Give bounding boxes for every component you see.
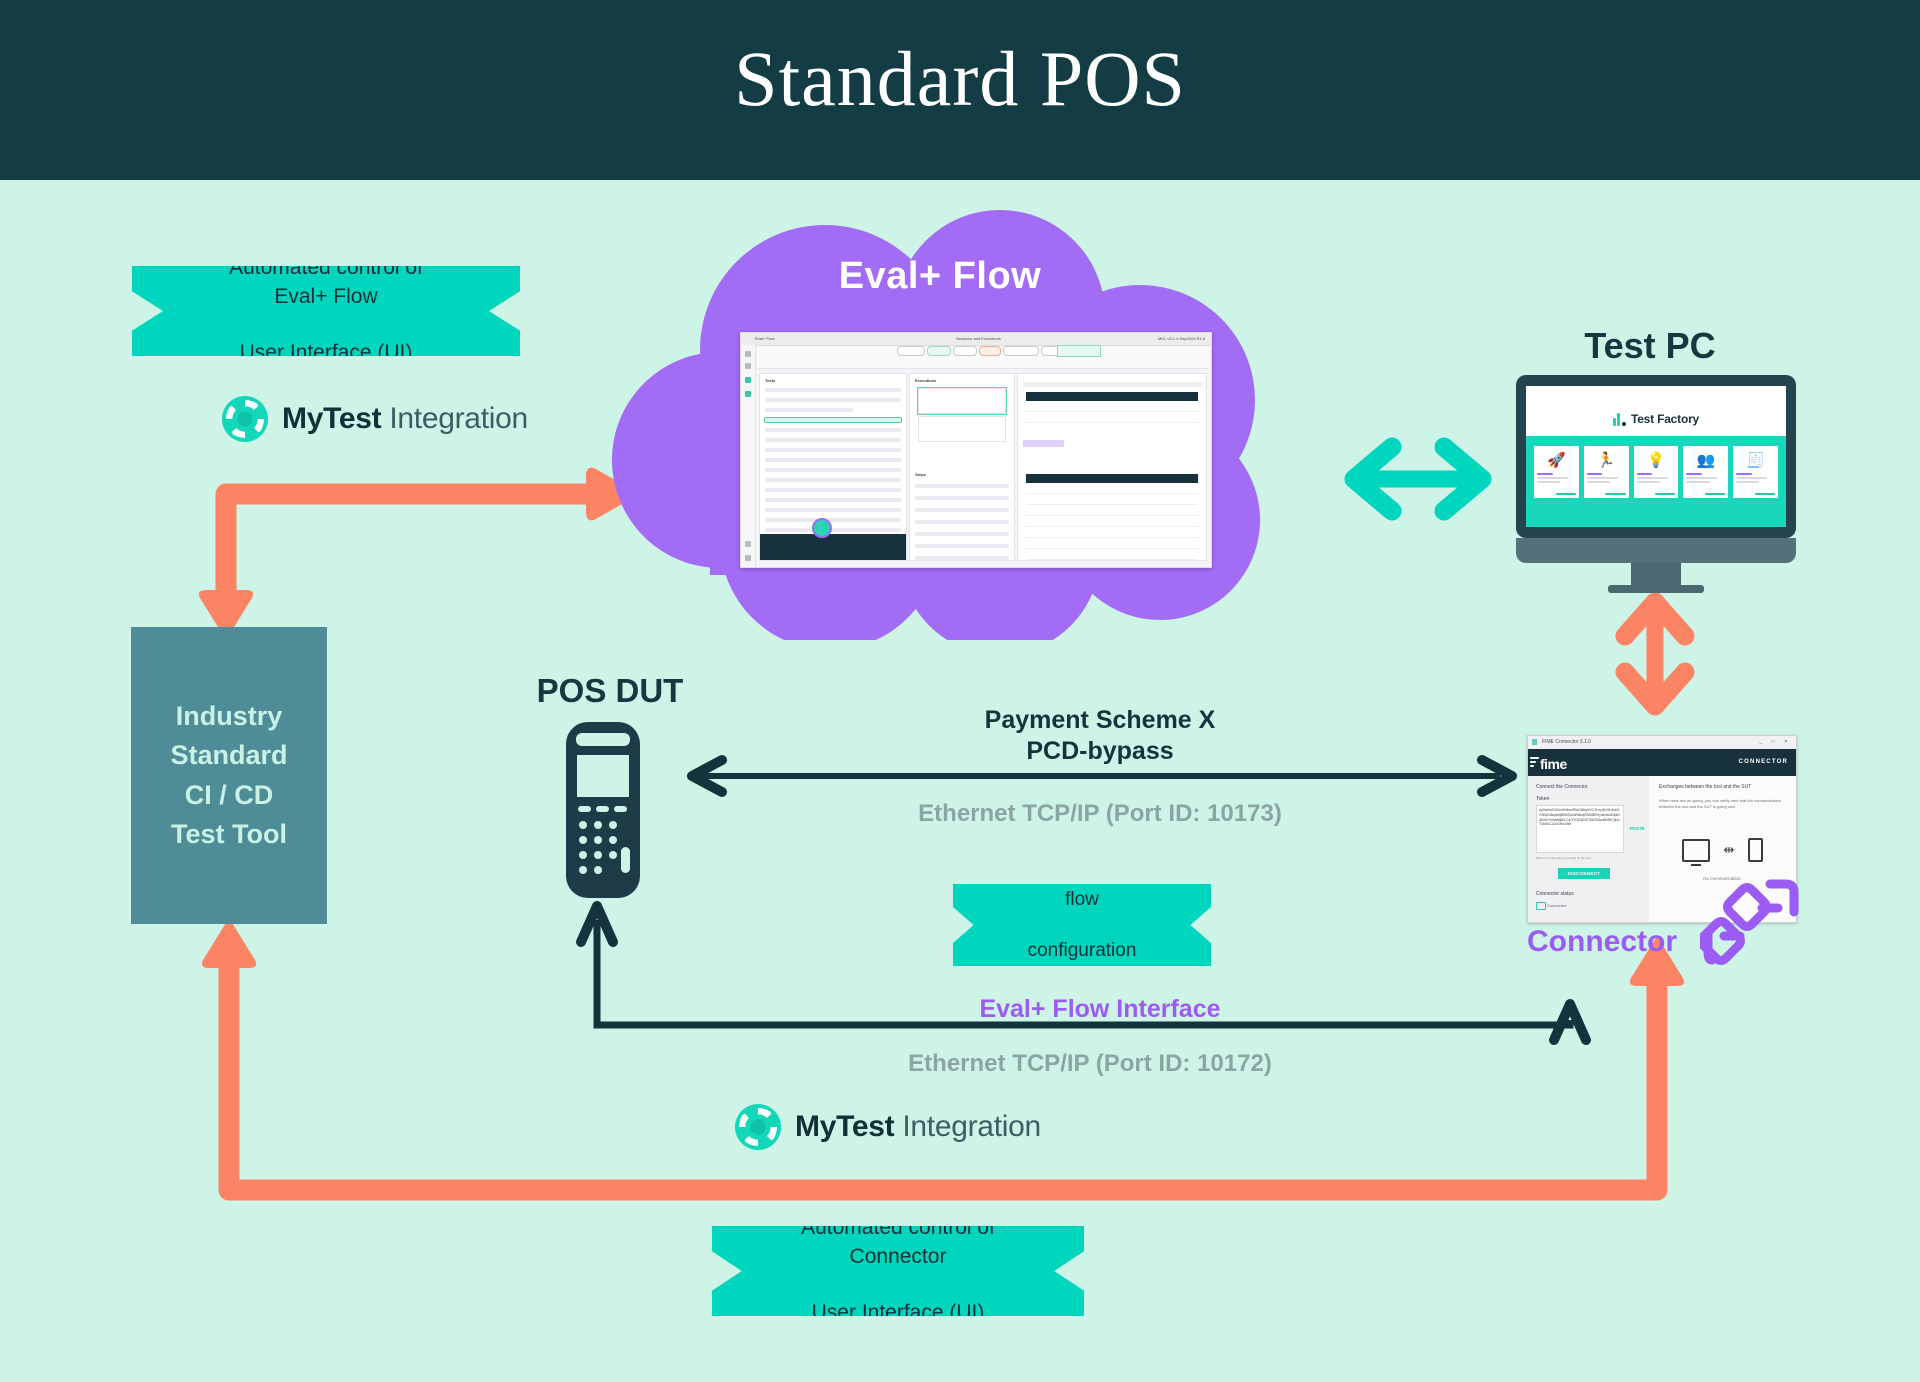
cicd-line2: Standard	[170, 740, 287, 770]
page-header: Standard POS	[0, 0, 1920, 180]
bulb-icon: 💡	[1637, 449, 1676, 471]
no-link-icon: ⇹	[1724, 842, 1735, 858]
teal-double-arrow-cloud-testpc	[1354, 447, 1482, 511]
diagram-canvas: Standard POS	[0, 0, 1920, 1382]
evalflow-tests-panel[interactable]: Tests	[759, 373, 907, 561]
payment-scheme-label: Payment Scheme X PCD-bypass	[800, 705, 1400, 768]
mytest-light: Integration	[389, 402, 527, 435]
token-textarea[interactable]: eyJhbGciOiJIUzI1NiIsInR5cCI6IkpXVCJ9.eyJ…	[1536, 805, 1624, 853]
connector-status-value: Connected	[1547, 903, 1566, 908]
testfactory-card[interactable]: 🏃	[1584, 446, 1629, 498]
mytest-wordmark: MyTest Integration	[795, 1110, 1041, 1144]
cicd-line3: CI / CD	[185, 780, 274, 810]
testfactory-navbar[interactable]	[1526, 386, 1786, 403]
connector-section-title: CONNECTOR	[1739, 759, 1788, 765]
exchanges-heading: Exchanges between the tool and the SUT	[1659, 784, 1751, 790]
refresh-cycle-icon	[735, 1104, 781, 1150]
mytest-wordmark: MyTest Integration	[282, 402, 528, 436]
phone-icon	[1748, 838, 1763, 862]
connector-brandbar: fime CONNECTOR	[1528, 749, 1796, 776]
connector-label: Connector	[1527, 925, 1727, 959]
evalflow-download-report-button[interactable]	[1057, 345, 1101, 357]
evalflow-app-screenshot[interactable]: Eval+ Flow Sessions and Executions MCL v…	[740, 332, 1212, 568]
token-label: Token	[1536, 796, 1549, 802]
orange-flow-cicd-to-cloud	[199, 468, 640, 640]
mytest-integration-logo-bottom: MyTest Integration	[735, 1104, 1041, 1150]
connector-left-pane: Connect the Connector Token eyJhbGciOiJI…	[1528, 776, 1650, 922]
connector-window-titlebar: FIME Connector 3.1.0 _ □ ✕	[1528, 736, 1796, 750]
mytest-integration-logo-top: MyTest Integration	[222, 396, 528, 442]
pos-dut-terminal-icon	[566, 722, 640, 898]
testfactory-card-row: 🚀 🏃 💡 👥 🧾	[1534, 446, 1778, 498]
testfactory-card[interactable]: 💡	[1634, 446, 1679, 498]
testfactory-card[interactable]: 🚀	[1534, 446, 1579, 498]
connector-window-title: FIME Connector 3.1.0	[1542, 739, 1591, 745]
plug-connector-icon	[1700, 878, 1804, 966]
payment-scheme-line1: Payment Scheme X	[985, 706, 1216, 734]
refresh-cycle-icon	[222, 396, 268, 442]
pos-dut-label: POS DUT	[500, 672, 720, 710]
testfactory-hero: Test Factory	[1526, 402, 1786, 436]
connect-heading: Connect the Connector	[1536, 784, 1587, 790]
invoice-icon: 🧾	[1736, 449, 1775, 471]
testfactory-card[interactable]: 👥	[1683, 446, 1728, 498]
window-controls[interactable]: _ □ ✕	[1759, 739, 1792, 745]
mytest-bold: MyTest	[282, 402, 381, 435]
runner-icon: 🏃	[1587, 449, 1626, 471]
ribbon-connector-line1: Automated control of Connector	[754, 1214, 1042, 1271]
ribbon-transaction-flow: Transaction flow configuration & outcome	[953, 884, 1211, 966]
mytest-bold: MyTest	[795, 1110, 894, 1143]
people-icon: 👥	[1686, 449, 1725, 471]
testfactory-logo-icon	[1613, 412, 1626, 426]
rocket-icon: 🚀	[1537, 449, 1576, 471]
evalflow-executions-panel[interactable]: Executions Steps	[909, 373, 1015, 561]
exchanges-body: When tests are on-going, you can verify …	[1659, 798, 1788, 810]
test-pc-label: Test PC	[1470, 325, 1830, 367]
ribbon-eval-line1: Automated control of Eval+ Flow	[174, 254, 478, 311]
monitor-icon	[1682, 839, 1710, 862]
ribbon-transaction-line2: configuration & outcome	[986, 938, 1179, 989]
evalflow-titlebar: Eval+ Flow Sessions and Executions MCL v…	[741, 333, 1211, 346]
evalflow-left-rail[interactable]	[741, 345, 756, 567]
page-title: Standard POS	[0, 34, 1920, 124]
ribbon-connector-line2: User Interface (UI)	[754, 1299, 1042, 1327]
mytest-light: Integration	[902, 1110, 1040, 1143]
testfactory-body: 🚀 🏃 💡 👥 🧾	[1526, 436, 1786, 527]
fime-logo-icon	[1530, 757, 1539, 768]
monitor-base	[1608, 585, 1704, 593]
ribbon-transaction-line1: Transaction flow	[986, 861, 1179, 912]
ribbon-eval-line2: User Interface (UI)	[174, 339, 478, 367]
evalflow-interface-label: Eval+ Flow Interface	[800, 995, 1400, 1024]
industry-standard-cicd-test-tool-box[interactable]: Industry Standard CI / CD Test Tool	[131, 627, 327, 924]
cicd-line4: Test Tool	[171, 819, 287, 849]
monitor-screen[interactable]: Test Factory 🚀 🏃 💡 👥 🧾	[1526, 386, 1786, 527]
test-pc-monitor: Test Factory 🚀 🏃 💡 👥 🧾	[1516, 375, 1796, 575]
token-note: Paste here the token provided by the too…	[1536, 856, 1591, 860]
fime-flag-icon	[1532, 739, 1537, 745]
evalflow-detail-panel[interactable]	[1017, 373, 1207, 561]
paste-button[interactable]: PASTE	[1630, 826, 1645, 831]
fime-brand: fime	[1540, 756, 1567, 772]
status-indicator-icon	[1536, 902, 1546, 910]
exchange-device-icons: ⇹	[1649, 838, 1796, 862]
disconnect-button[interactable]: DISCONNECT	[1558, 868, 1610, 879]
ribbon-automated-control-connector: Automated control of Connector User Inte…	[712, 1226, 1084, 1316]
ribbon-automated-control-evalflow: Automated control of Eval+ Flow User Int…	[132, 266, 520, 356]
monitor-bezel: Test Factory 🚀 🏃 💡 👥 🧾	[1516, 375, 1796, 538]
payment-scheme-line2: PCD-bypass	[1026, 737, 1173, 765]
testfactory-card[interactable]: 🧾	[1733, 446, 1778, 498]
cicd-box-label: Industry Standard CI / CD Test Tool	[170, 697, 287, 854]
evalflow-run-button[interactable]	[812, 518, 832, 538]
connector-status-label: Connector status	[1536, 891, 1574, 897]
ethernet-port-10172-label: Ethernet TCP/IP (Port ID: 10172)	[790, 1050, 1390, 1078]
testfactory-brand: Test Factory	[1631, 412, 1699, 426]
orange-double-arrow-testpc-connector	[1625, 602, 1685, 706]
ethernet-port-10173-label: Ethernet TCP/IP (Port ID: 10173)	[800, 800, 1400, 828]
cicd-line1: Industry	[176, 701, 283, 731]
monitor-chin	[1516, 538, 1796, 563]
